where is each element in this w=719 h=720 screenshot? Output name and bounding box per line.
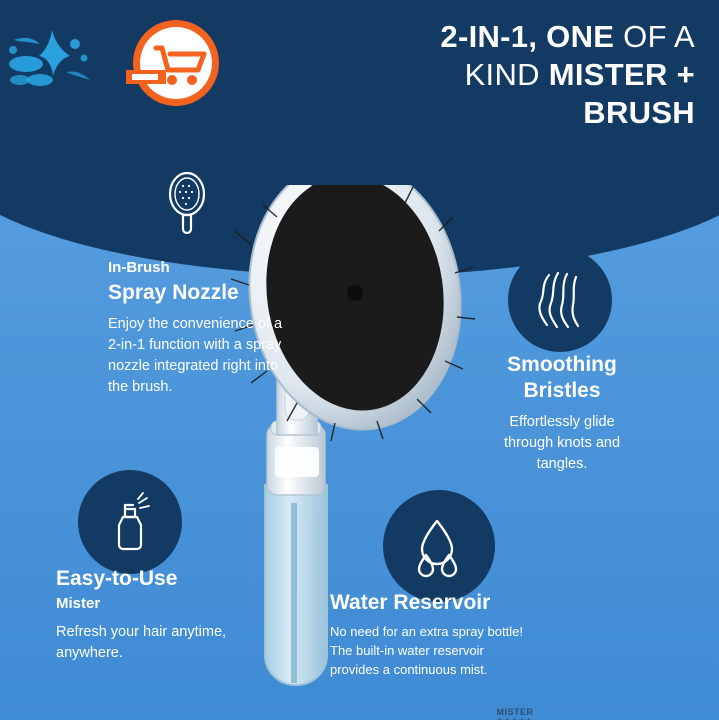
product-brand-label: MISTER ★★★★★: [483, 707, 547, 720]
brand-name: MISTER: [483, 707, 547, 717]
feature-text-smoothing-bristles: Smoothing Bristles Effortlessly glide th…: [492, 352, 632, 475]
reservoir-body-line1: No need for an extra spray bottle!: [330, 622, 580, 641]
water-splash-icon: [6, 20, 106, 106]
spray-nozzle-title: Spray Nozzle: [108, 280, 293, 306]
feature-text-easy-to-use-mister: Easy-to-Use Mister Refresh your hair any…: [56, 566, 246, 664]
banner-headline: 2-IN-1, ONE OF A KIND MISTER + BRUSH: [295, 18, 695, 132]
reservoir-body-line3: provides a continuous mist.: [330, 660, 580, 679]
reservoir-body-line2: The built-in water reservoir: [330, 641, 580, 660]
feature-icon-droplets: [383, 490, 495, 602]
reservoir-title: Water Reservoir: [330, 590, 580, 616]
feature-text-water-reservoir: Water Reservoir No need for an extra spr…: [330, 590, 580, 679]
infographic-canvas: 2-IN-1, ONE OF A KIND MISTER + BRUSH: [0, 0, 719, 720]
smoothing-bristles-title: Smoothing: [492, 352, 632, 378]
smoothing-bristles-body: Effortlessly glide through knots and tan…: [492, 412, 632, 475]
hair-brush-icon: [155, 170, 219, 234]
feature-text-spray-nozzle: In-Brush Spray Nozzle Enjoy the convenie…: [108, 258, 293, 398]
headline-line1-strong: 2-IN-1, ONE: [440, 19, 614, 54]
mister-body: Refresh your hair anytime, anywhere.: [56, 622, 246, 664]
shopping-cart-icon[interactable]: [110, 18, 242, 112]
headline-line2-strong: MISTER +: [549, 57, 695, 92]
mister-title: Easy-to-Use: [56, 566, 246, 592]
spray-nozzle-small-title: In-Brush: [108, 258, 293, 278]
feature-icon-spray-bottle: [78, 470, 182, 574]
smoothing-bristles-title2: Bristles: [492, 378, 632, 404]
spray-nozzle-body: Enjoy the convenience of a 2-in-1 functi…: [108, 314, 293, 398]
water-droplets-icon: [404, 511, 474, 581]
headline-line1-light: OF A: [614, 19, 695, 54]
spray-bottle-icon: [97, 489, 163, 555]
headline-line2-light: KIND: [465, 57, 549, 92]
mister-small-title: Mister: [56, 594, 246, 614]
feature-icon-brush: [135, 150, 239, 254]
feature-icon-wavy-hair: [508, 248, 612, 352]
headline-line3-strong: BRUSH: [583, 95, 695, 130]
wavy-hair-icon: [527, 267, 593, 333]
